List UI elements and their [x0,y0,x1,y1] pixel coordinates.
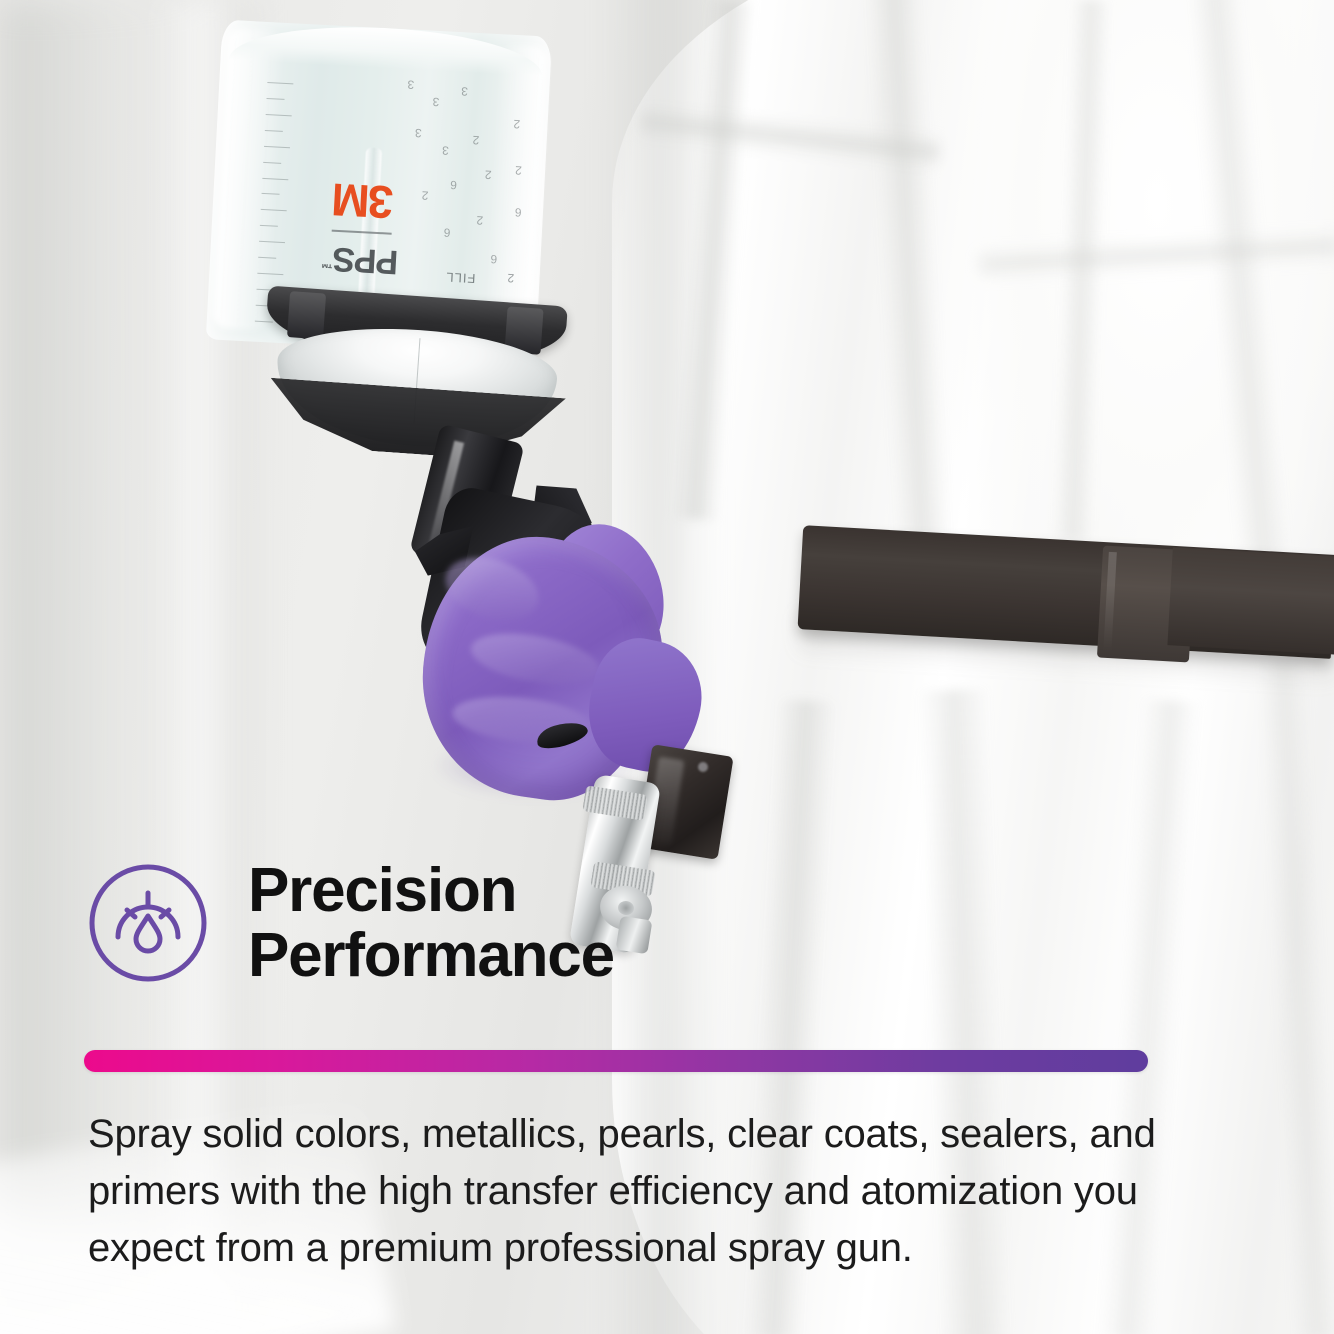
feature-description: Spray solid colors, metallics, pearls, c… [88,1106,1178,1276]
feature-block: Precision Performance [84,858,614,988]
feature-title: Precision Performance [248,858,614,988]
promo-banner: PPS™ 3M 3 3 3 3 3 2 2 6 2 2 6 6 2 2 6 [0,0,1334,1334]
gradient-divider [84,1050,1148,1072]
gauge-droplet-icon [84,859,212,987]
content-overlay: Precision Performance Spray solid colors… [0,0,1334,1334]
